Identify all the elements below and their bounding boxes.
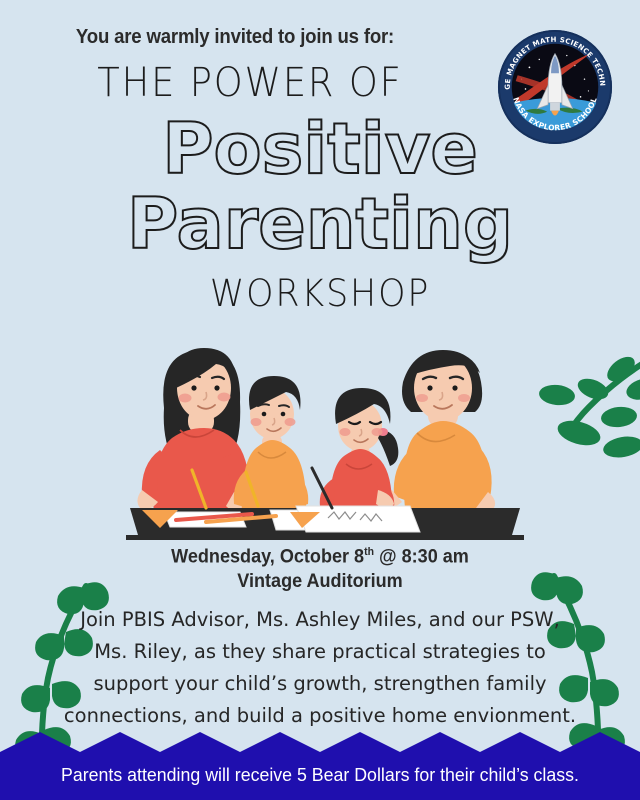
description-paragraph: Join PBIS Advisor, Ms. Ashley Miles, and…	[55, 604, 585, 732]
title-positive: Positive	[0, 108, 640, 190]
title-the-power-of: THE POWER OF	[20, 60, 480, 106]
event-location: Vintage Auditorium	[16, 569, 624, 594]
figure-daughter	[320, 388, 399, 518]
event-details: Wednesday, October 8th @ 8:30 am Vintage…	[16, 540, 624, 594]
date-ordinal: th	[364, 546, 374, 558]
title-parenting: Parenting	[0, 183, 640, 265]
description-line-4: connections, and build a positive home e…	[55, 700, 585, 732]
invitation-line: You are warmly invited to join us for:	[16, 26, 453, 49]
event-time: @ 8:30 am	[374, 546, 469, 567]
event-date-line: Wednesday, October 8th @ 8:30 am	[16, 540, 624, 569]
family-illustration	[120, 330, 530, 545]
description-line-1: Join PBIS Advisor, Ms. Ashley Miles, and…	[55, 604, 585, 636]
flyer-poster: VINTAGE MAGNET MATH SCIENCE TECHNOLOGY N…	[0, 0, 640, 800]
description-line-2: Ms. Riley, as they share practical strat…	[55, 636, 585, 668]
description-line-3: support your child’s growth, strengthen …	[55, 668, 585, 700]
banner-message: Parents attending will receive 5 Bear Do…	[13, 764, 627, 786]
event-date: Wednesday, October 8	[171, 546, 364, 567]
olive-branch-icon	[535, 355, 640, 495]
figure-son	[234, 376, 309, 518]
title-workshop: WORKSHOP	[19, 272, 621, 315]
figure-mother	[137, 348, 249, 518]
